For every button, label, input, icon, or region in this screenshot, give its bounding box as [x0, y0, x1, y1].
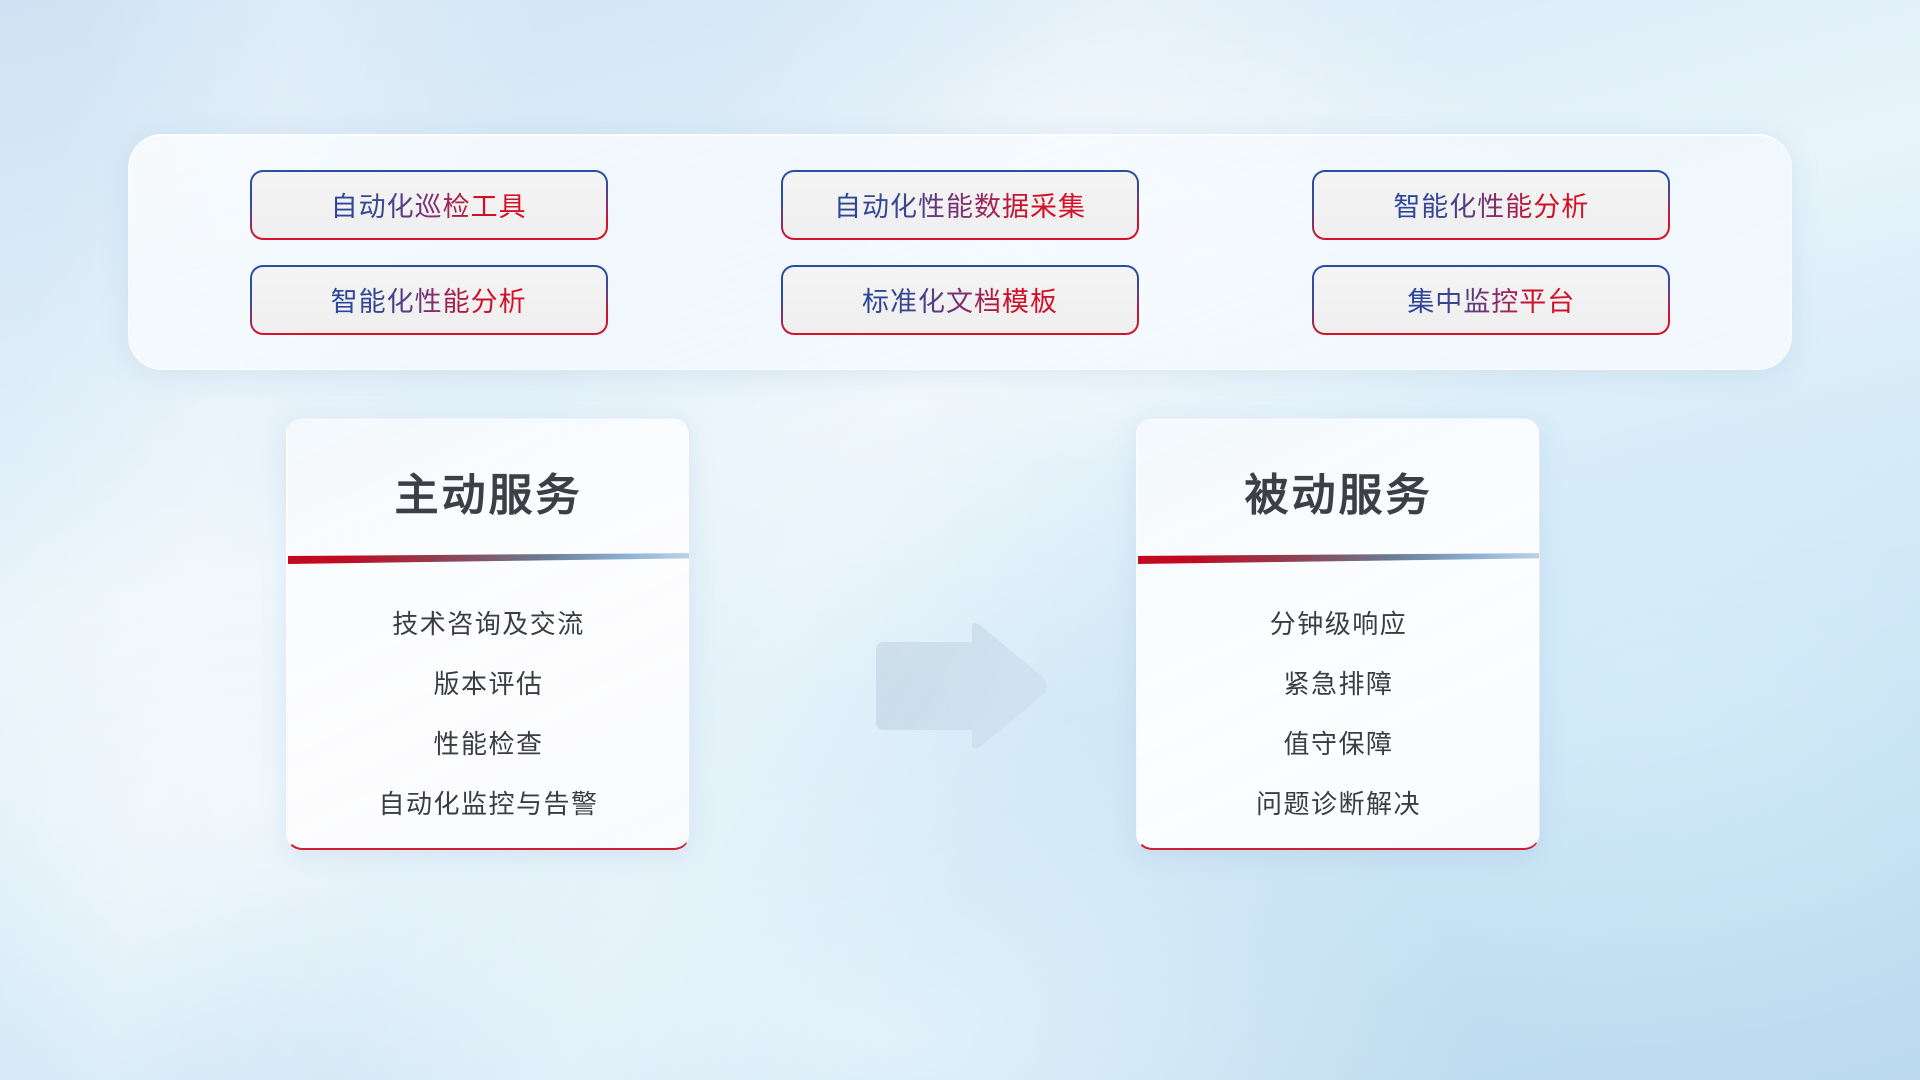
service-card-list: 分钟级响应 紧急排障 值守保障 问题诊断解决 SLA式服务: [1138, 594, 1539, 850]
capabilities-panel: 自动化巡检工具 自动化性能数据采集 智能化性能分析 智能化性能分析 标准化文档模…: [128, 134, 1792, 370]
capability-chip[interactable]: 智能化性能分析: [1314, 172, 1668, 238]
capability-chip-label: 自动化巡检工具: [331, 185, 527, 224]
service-list-item: 值守保障: [1283, 714, 1393, 774]
service-list-item: SLA式服务: [1270, 834, 1406, 850]
service-card-proactive: 主动服务 技术咨询及交流 版本评估 性能检查: [286, 418, 690, 850]
capability-chip-label: 自动化性能数据采集: [834, 185, 1086, 224]
service-list-item: 健康巡检: [433, 834, 543, 850]
capability-chip[interactable]: 自动化性能数据采集: [783, 172, 1137, 238]
capability-chip-label: 智能化性能分析: [331, 280, 527, 319]
capability-chip-label: 智能化性能分析: [1393, 185, 1589, 224]
capability-chip[interactable]: 集中监控平台: [1314, 267, 1668, 333]
service-card-reactive: 被动服务 分钟级响应 紧急排障 值守保障: [1136, 418, 1540, 850]
capability-chip-label: 集中监控平台: [1407, 280, 1575, 319]
capability-chip[interactable]: 自动化巡检工具: [252, 172, 606, 238]
title-divider: [286, 553, 690, 566]
service-list-item: 问题诊断解决: [1256, 774, 1421, 834]
capability-chip[interactable]: 标准化文档模板: [783, 267, 1137, 333]
slide-canvas: 自动化巡检工具 自动化性能数据采集 智能化性能分析 智能化性能分析 标准化文档模…: [0, 0, 1920, 1080]
service-list-item: 性能检查: [433, 714, 543, 774]
title-divider: [1136, 553, 1540, 566]
service-card-title: 主动服务: [288, 459, 689, 523]
service-list-item: 自动化监控与告警: [378, 774, 598, 834]
service-list-item: 版本评估: [433, 654, 543, 714]
capability-chip-label: 标准化文档模板: [862, 280, 1058, 319]
service-card-list: 技术咨询及交流 版本评估 性能检查 自动化监控与告警 健康巡检: [288, 594, 689, 850]
service-card-title: 被动服务: [1138, 459, 1539, 523]
right-arrow-icon: [872, 620, 1050, 752]
service-list-item: 紧急排障: [1283, 654, 1393, 714]
capability-chip[interactable]: 智能化性能分析: [252, 267, 606, 333]
service-list-item: 技术咨询及交流: [392, 594, 585, 654]
service-list-item: 分钟级响应: [1270, 594, 1408, 654]
